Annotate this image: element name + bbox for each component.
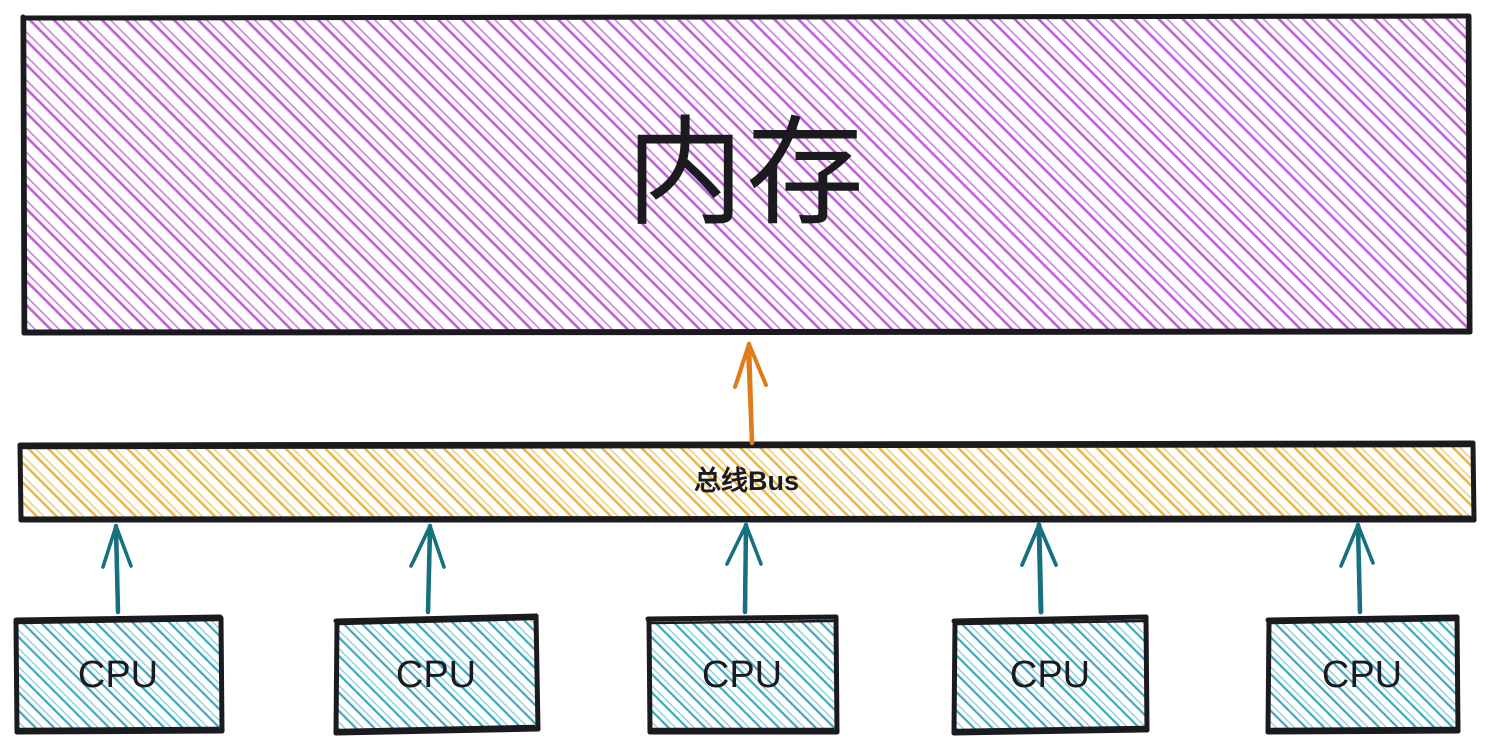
cpu-box-3[interactable]: CPU — [949, 614, 1151, 735]
arrow-cpu-4-to-bus[interactable] — [1341, 525, 1373, 612]
cpu-box-4-label: CPU — [1322, 656, 1402, 694]
cpu-box-1-label: CPU — [396, 656, 476, 694]
bus-bar-label: 总线Bus — [694, 468, 799, 495]
arrow-cpu-0-to-bus[interactable] — [103, 526, 131, 612]
memory-box[interactable]: 内存 — [20, 13, 1472, 335]
cpu-box-0-label: CPU — [78, 656, 158, 694]
bus-bar[interactable]: 总线Bus — [17, 440, 1476, 522]
cpu-box-2[interactable]: CPU — [644, 614, 840, 735]
arrow-bus-to-memory[interactable] — [735, 344, 766, 443]
arrow-cpu-1-to-bus[interactable] — [411, 526, 444, 612]
diagram-canvas: 内存 总线Bus — [0, 0, 1496, 749]
cpu-box-0[interactable]: CPU — [11, 614, 225, 735]
cpu-box-4[interactable]: CPU — [1263, 614, 1461, 735]
cpu-box-2-label: CPU — [702, 656, 782, 694]
cpu-box-1[interactable]: CPU — [331, 614, 541, 735]
arrow-cpu-3-to-bus[interactable] — [1022, 525, 1056, 612]
memory-box-label: 内存 — [626, 115, 866, 233]
arrow-cpu-2-to-bus[interactable] — [727, 525, 761, 612]
cpu-box-3-label: CPU — [1010, 656, 1090, 694]
